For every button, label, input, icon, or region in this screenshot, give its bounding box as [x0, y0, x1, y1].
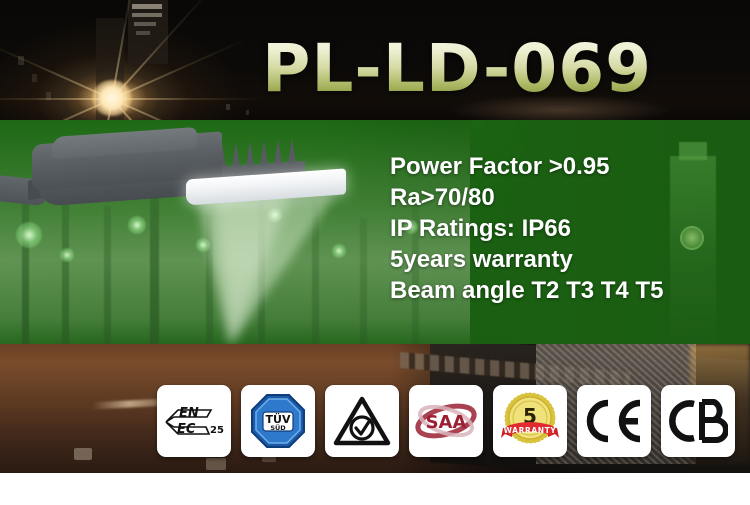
window-light [136, 31, 150, 35]
park-lamp-glow [60, 248, 74, 262]
svg-text:SÜD: SÜD [270, 423, 286, 432]
badge-ce[interactable] [577, 385, 651, 457]
spec-line-ip-rating: IP Ratings: IP66 [390, 213, 663, 244]
streetlamp-glow [92, 80, 132, 116]
svg-text:EC: EC [177, 422, 196, 437]
paving-stone [74, 448, 92, 460]
spec-line-warranty: 5years warranty [390, 244, 663, 275]
badge-rcm[interactable] [325, 385, 399, 457]
page-title: PL-LD-069 [262, 36, 652, 102]
clock-face [680, 226, 704, 250]
clock-tower [670, 156, 716, 346]
enec-icon: EN EC 25 [163, 398, 225, 444]
badge-tuv-sud[interactable]: TÜV SÜD [241, 385, 315, 457]
product-banner: PL-LD-069 Power Factor >0.95 Ra>70/80 IP… [0, 0, 750, 505]
bottom-white-strip [0, 473, 750, 505]
svg-text:WARRANTY: WARRANTY [504, 426, 557, 435]
light-ray [112, 98, 262, 100]
window-light [132, 13, 162, 17]
saa-icon: SAA [413, 397, 479, 445]
window-light [32, 74, 37, 82]
heat-fin [274, 139, 282, 166]
tree-trunk [360, 218, 367, 346]
window-light [132, 4, 162, 9]
heat-fin [246, 140, 254, 167]
spec-line-cri: Ra>70/80 [390, 182, 663, 213]
heat-fin [260, 140, 268, 167]
led-street-light-fixture [0, 126, 286, 230]
badge-enec[interactable]: EN EC 25 [157, 385, 231, 457]
rcm-icon [333, 395, 391, 447]
spec-list: Power Factor >0.95 Ra>70/80 IP Ratings: … [390, 151, 663, 306]
window-light [226, 104, 230, 110]
svg-text:SAA: SAA [426, 412, 467, 433]
window-light [134, 22, 156, 26]
badge-cb[interactable] [661, 385, 735, 457]
park-lamp-glow [332, 244, 346, 258]
tuv-sud-icon: TÜV SÜD [249, 392, 307, 450]
spec-line-power-factor: Power Factor >0.95 [390, 151, 663, 182]
svg-text:25: 25 [210, 425, 224, 436]
ce-icon [584, 398, 644, 444]
heat-fin [232, 141, 240, 168]
heat-fin [288, 138, 296, 165]
badge-saa[interactable]: SAA [409, 385, 483, 457]
window-light [246, 110, 249, 115]
cb-icon [668, 398, 728, 444]
badge-warranty-seal[interactable]: 5 WARRANTY [493, 385, 567, 457]
paving-stone [206, 458, 226, 470]
warranty-seal-icon: 5 WARRANTY [499, 390, 561, 452]
svg-text:EN: EN [179, 406, 199, 421]
spec-line-beam-angle: Beam angle T2 T3 T4 T5 [390, 275, 663, 306]
